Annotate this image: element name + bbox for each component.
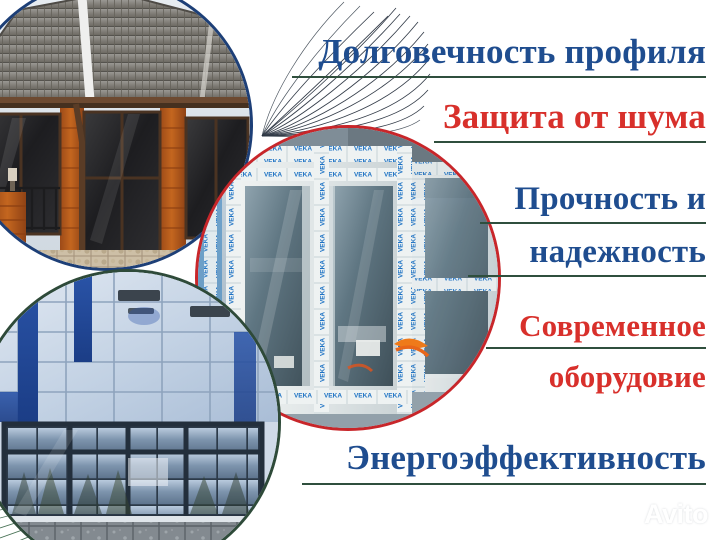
- headline-durability-underline: [292, 76, 706, 78]
- headline-efficiency-underline: [302, 483, 706, 485]
- headline-noise-underline: [434, 141, 706, 143]
- headline-strength-underline: [480, 222, 706, 224]
- headline-durability: Долговечность профиля: [318, 34, 706, 69]
- facade-photo-art: [0, 272, 278, 540]
- headline-strength: Прочность и: [514, 183, 706, 216]
- promo-poster: VEKA VEKA: [0, 0, 720, 540]
- headline-noise: Защита от шума: [443, 99, 706, 134]
- headline-stack: Долговечность профиля Защита от шума Про…: [258, 0, 706, 540]
- headline-reliability: надежность: [529, 236, 706, 269]
- photo-circle-facade: [0, 272, 278, 540]
- headline-modern: Современное: [519, 310, 706, 341]
- avito-dots-icon: [615, 503, 639, 527]
- headline-efficiency: Энергоэффективность: [346, 440, 706, 475]
- avito-watermark-text: Avito: [644, 499, 708, 530]
- avito-watermark: Avito: [615, 499, 708, 530]
- headline-reliability-underline: [468, 275, 706, 277]
- headline-equipment: оборудовие: [549, 361, 706, 392]
- headline-modern-underline: [486, 347, 706, 349]
